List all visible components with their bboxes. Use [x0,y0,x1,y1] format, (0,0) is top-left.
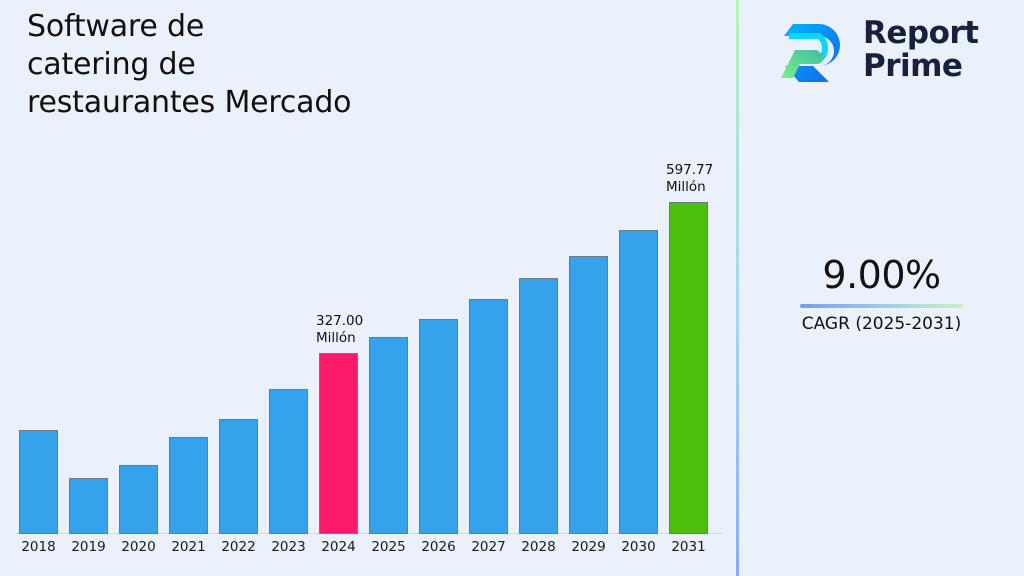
bar-2019[interactable] [69,478,108,534]
bar-2029[interactable] [569,256,608,534]
bar-2027[interactable] [469,299,508,534]
report-prime-logo-icon [777,14,849,86]
bar-chart: 327.00 Millón 597.77 Millón 2018 2019 20… [0,0,737,576]
cagr-label: CAGR (2025-2031) [739,313,1024,335]
bar-value-label-2024: 327.00 Millón [316,313,406,347]
bar-2023[interactable] [269,389,308,534]
bar-2021[interactable] [169,437,208,534]
infographic-canvas: Software de catering de restaurantes Mer… [0,0,1024,576]
bar-2022[interactable] [219,419,258,534]
bar-2025[interactable] [369,337,408,534]
bar-2026[interactable] [419,319,458,534]
brand-name-line2: Prime [863,50,979,83]
chart-panel: Software de catering de restaurantes Mer… [0,0,737,576]
bar-2031[interactable] [669,202,708,534]
bar-2030[interactable] [619,230,658,534]
bar-2018[interactable] [19,430,58,534]
cagr-value: 9.00% [739,252,1024,298]
brand-panel: Report Prime 9.00% CAGR (2025-2031) [739,0,1024,576]
x-tick-2031: 2031 [659,539,719,555]
cagr-block: 9.00% CAGR (2025-2031) [739,252,1024,335]
brand-name: Report Prime [863,17,979,83]
bar-2020[interactable] [119,465,158,534]
bar-2028[interactable] [519,278,558,534]
bar-2024[interactable] [319,353,358,534]
brand-name-line1: Report [863,17,979,50]
brand-logo[interactable]: Report Prime [777,14,979,86]
cagr-divider-rule [800,304,963,308]
